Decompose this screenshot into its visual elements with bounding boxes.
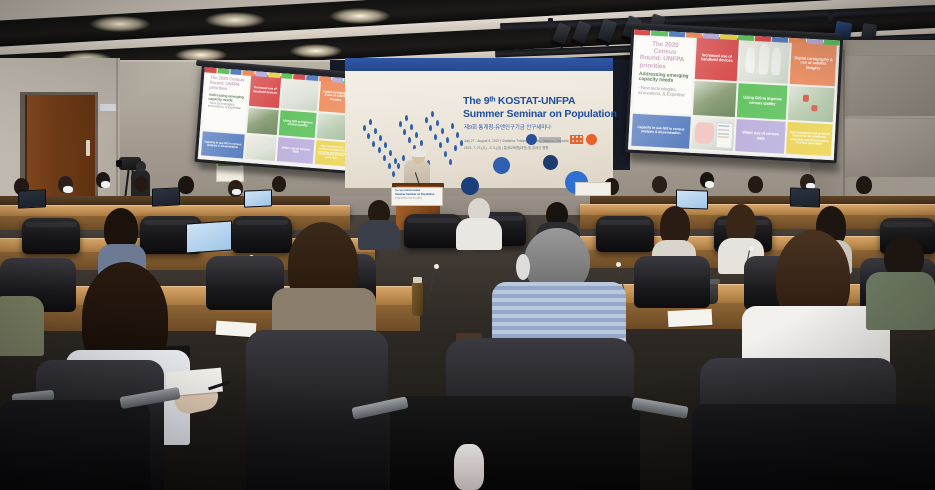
chair[interactable] <box>596 216 654 252</box>
camera-lens-hood <box>116 160 122 167</box>
microphone-head <box>434 264 439 269</box>
right-wall-panel <box>845 118 935 177</box>
foreground-chair-back[interactable] <box>0 400 150 490</box>
chair[interactable] <box>404 214 462 248</box>
slide-sub-text: - New technologies, innovations, & Exper… <box>208 101 244 111</box>
decor-circle <box>461 177 479 195</box>
banner-fine-print-2: 2022. 7. 27.(수) - 8. 5.(금) | 통계교육원(대전) 및… <box>464 145 548 150</box>
banner-fine-print-1: July 27 - August 5, 2022 | Statistics Tr… <box>464 139 583 143</box>
slide-tile-label: Increased use of handheld devices <box>251 86 278 95</box>
ceiling-downlight <box>290 44 342 58</box>
face-mask-strap <box>516 254 530 280</box>
decor-circle <box>493 157 510 174</box>
slide-sub-bold: Addressing emerging capacity needs <box>639 72 689 86</box>
slide-sub-text: - New technologies, innovations, & Exper… <box>638 85 688 98</box>
banner-title-line1: The 9ᵗʰ KOSTAT-UNFPA <box>463 95 575 107</box>
foreground-chair-back[interactable] <box>692 404 935 490</box>
chair[interactable] <box>232 216 292 253</box>
slide-photo-aerial <box>692 80 736 116</box>
attendee-head <box>134 176 148 192</box>
slide-photo-chart <box>691 116 735 151</box>
slide-photo-map <box>788 85 834 121</box>
chair[interactable] <box>634 256 710 308</box>
wall-seam <box>116 58 118 218</box>
ceiling-downlight <box>330 8 390 24</box>
microphone-head <box>749 246 754 251</box>
camera-operator-head <box>136 161 146 172</box>
laptop[interactable] <box>18 189 46 208</box>
microphone-head <box>616 262 621 267</box>
kostat-logo-text <box>539 137 561 143</box>
chair[interactable] <box>22 218 80 254</box>
laptop[interactable] <box>244 189 272 207</box>
attendee-head <box>178 176 194 194</box>
podium-sign-line1: The 9th KOSTAT-UNFPA <box>395 190 442 192</box>
foreground-chair-back[interactable] <box>390 396 640 490</box>
slide-tile-label: Wider use of census data <box>738 131 783 142</box>
laptop[interactable] <box>186 220 232 253</box>
speaker-hair <box>411 148 426 157</box>
slide-photo-enumerators <box>281 76 319 110</box>
slide-tile-label: Wider use of census data <box>280 146 312 155</box>
banner-blue-band <box>345 58 613 72</box>
attendee-head <box>652 176 667 193</box>
slide-tile-label: Capacity to use GIS in census analysis &… <box>634 126 688 137</box>
attendee-torso <box>0 296 44 356</box>
banner-body: The 9ᵗʰ KOSTAT-UNFPA Summer Seminar on P… <box>345 71 613 188</box>
slide-photo-enumerators <box>739 38 790 83</box>
slide-content-left: The 2020 Census Round: UNFPA priorities … <box>198 67 357 170</box>
slide-photo-chart <box>244 135 277 161</box>
slide-heading-3: priorities <box>209 86 227 92</box>
face-mask <box>232 189 241 195</box>
door-handle[interactable] <box>86 140 90 156</box>
podium-sign-line3: 통계청-유엔인구기금 인구세미나 <box>395 197 442 200</box>
attendee-torso <box>358 220 400 250</box>
paper-document[interactable] <box>668 309 713 327</box>
laptop[interactable] <box>790 187 820 207</box>
attendee-head <box>748 176 763 193</box>
slide-tile-label: Increased use of handheld devices <box>697 53 736 64</box>
slide-tile-label: High investment and technical assistance… <box>789 131 830 147</box>
exit-sign <box>100 104 116 111</box>
water-bottle[interactable] <box>412 282 423 316</box>
banner-title-line2: Summer Seminar on Population <box>463 108 617 120</box>
event-banner: The 9ᵗʰ KOSTAT-UNFPA Summer Seminar on P… <box>345 58 613 188</box>
slide-tile-label: High investment and technical assistance… <box>317 145 346 161</box>
kostat-logo <box>526 134 537 145</box>
banner-korean-subtitle: 제9회 통계청-유엔인구기금 인구세미나 <box>464 123 551 131</box>
podium-sign: The 9th KOSTAT-UNFPA Summer Seminar on P… <box>391 187 443 206</box>
slide-content-right: The 2020 Census Round: UNFPA priorities … <box>628 30 840 161</box>
bottle-cap <box>413 277 422 283</box>
face-mask <box>101 181 110 188</box>
attendee-head <box>272 176 286 192</box>
decor-circle <box>543 155 558 170</box>
unfpa-logo-grid <box>570 135 583 144</box>
slide-tile-label: Digital cartography & use of satellite i… <box>793 56 834 72</box>
ceiling-downlight <box>90 16 150 32</box>
slide-tile-label: Capacity to use GIS in census analysis &… <box>204 140 242 149</box>
right-wall-panel <box>845 55 935 116</box>
slide-photo-aerial <box>246 107 279 135</box>
conference-hall-photo: The 2020 Census Round: UNFPA priorities … <box>0 0 935 490</box>
slide-tile-label: Using GIS to improve census quality <box>282 119 314 128</box>
attendee-torso <box>866 272 935 330</box>
podium-sign-line2: Summer Seminar on Population <box>395 193 442 196</box>
slide-heading-3: priorities <box>639 62 666 71</box>
projection-screen-right: The 2020 Census Round: UNFPA priorities … <box>625 27 843 164</box>
attendee-torso <box>456 218 502 250</box>
laptop[interactable] <box>152 187 180 206</box>
tissue-on-floor <box>454 444 484 490</box>
ceiling-downlight <box>205 12 265 28</box>
unfpa-logo-mark <box>586 134 597 145</box>
truss-drop-arm <box>548 18 553 32</box>
laptop[interactable] <box>676 189 708 209</box>
projection-screen-left: The 2020 Census Round: UNFPA priorities … <box>194 64 359 174</box>
name-plate <box>575 182 611 196</box>
face-mask <box>63 186 73 193</box>
attendee-head <box>856 176 872 194</box>
truss-drop-arm <box>828 10 833 24</box>
slide-tile-label: Using GIS to improve census quality <box>740 95 785 106</box>
face-mask <box>705 181 714 188</box>
